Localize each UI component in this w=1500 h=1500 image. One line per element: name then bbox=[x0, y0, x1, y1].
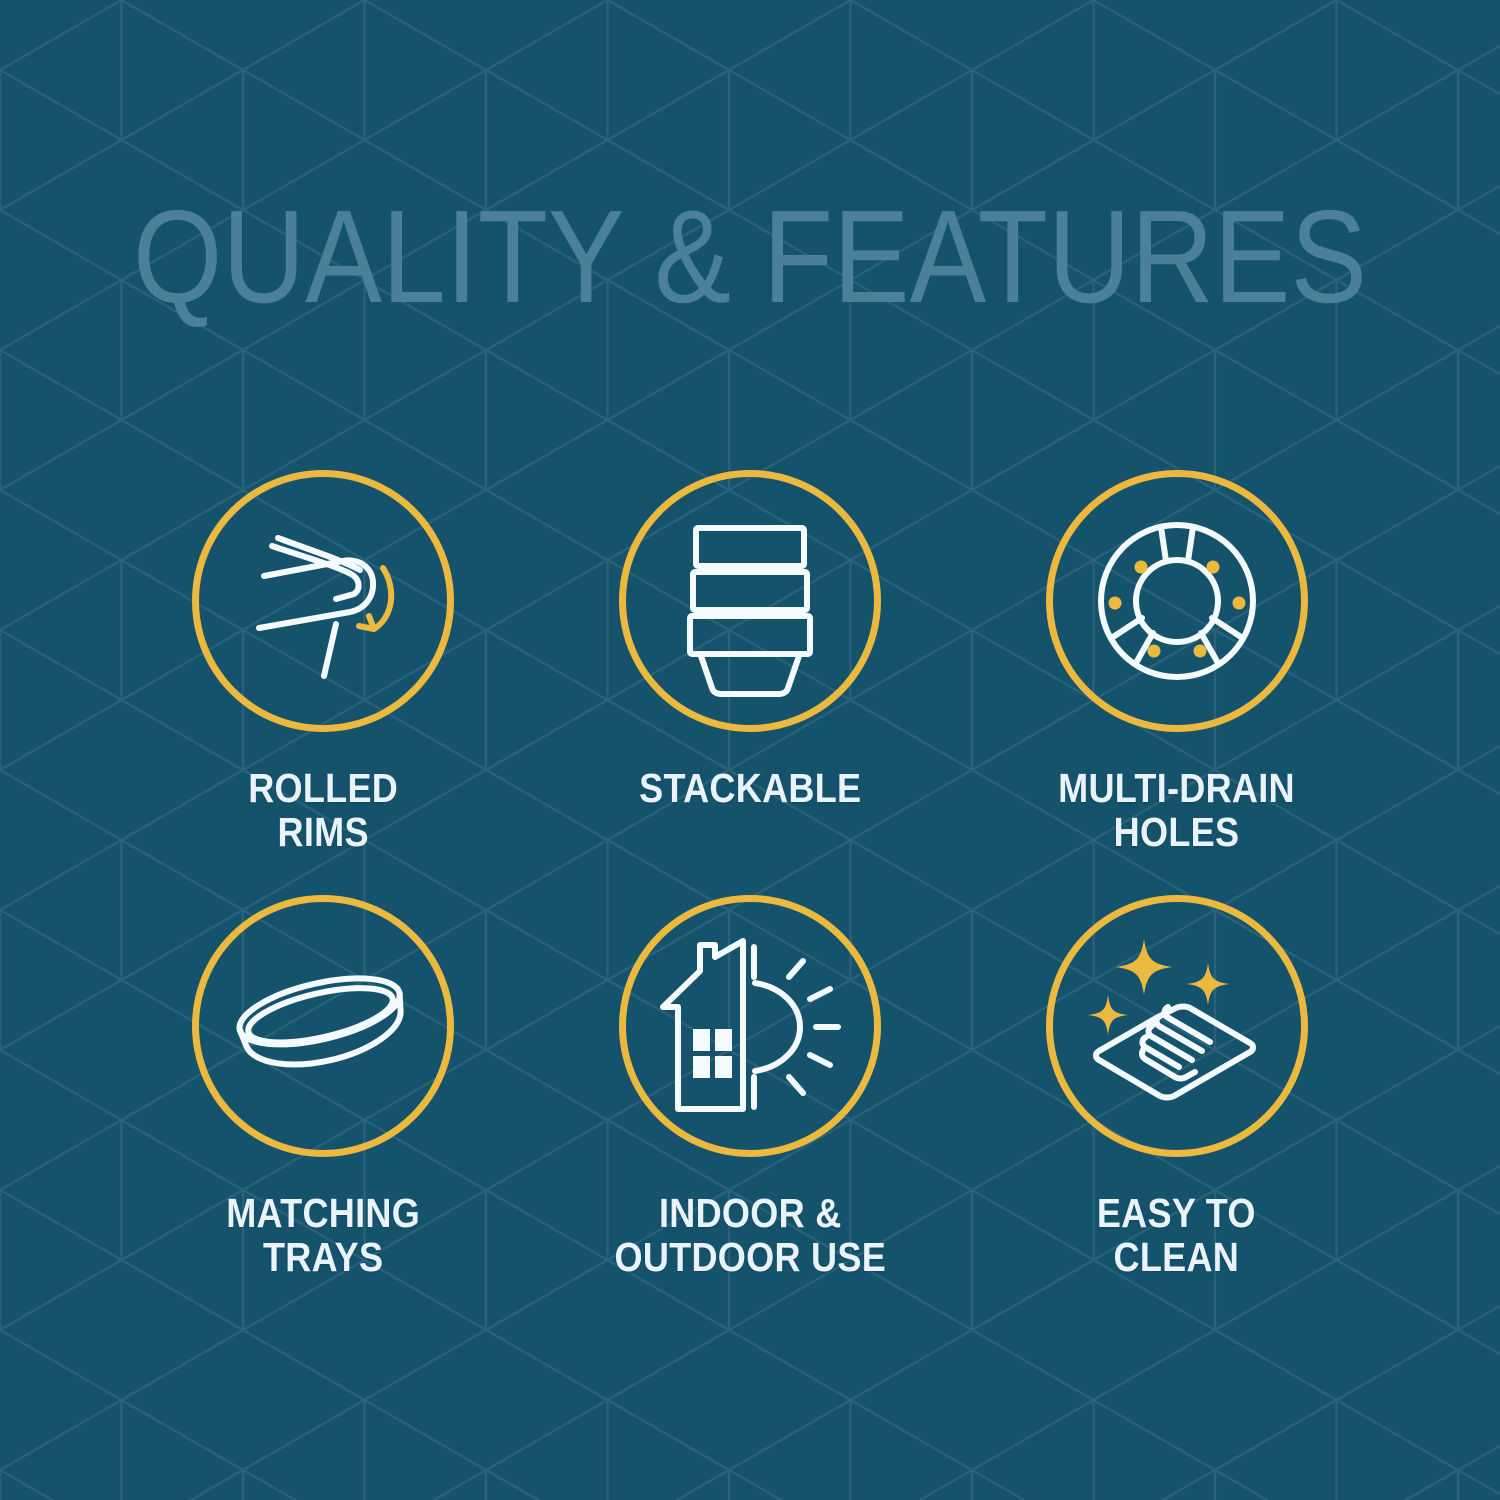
icon-circle-rolled-rims bbox=[192, 470, 454, 732]
feature-multi-drain-holes[interactable]: MULTI-DRAIN HOLES bbox=[963, 470, 1390, 895]
feature-label-rolled-rims: ROLLED RIMS bbox=[248, 766, 398, 855]
feature-label-indoor-outdoor-use: INDOOR & OUTDOOR USE bbox=[614, 1191, 886, 1280]
saucer-tray-icon bbox=[228, 931, 418, 1121]
feature-matching-trays[interactable]: MATCHING TRAYS bbox=[110, 895, 537, 1320]
page-title: QUALITY & FEATURES bbox=[0, 196, 1500, 336]
feature-indoor-outdoor-use[interactable]: INDOOR & OUTDOOR USE bbox=[537, 895, 964, 1320]
feature-label-multi-drain-holes: MULTI-DRAIN HOLES bbox=[1058, 766, 1295, 855]
house-sun-icon bbox=[655, 931, 845, 1121]
title-label: QUALITY & FEATURES bbox=[133, 201, 1367, 330]
stacked-pots-icon bbox=[655, 506, 845, 696]
feature-rolled-rims[interactable]: ROLLED RIMS bbox=[110, 470, 537, 895]
icon-circle-easy-to-clean bbox=[1046, 895, 1308, 1157]
icon-circle-indoor-outdoor-use bbox=[619, 895, 881, 1157]
feature-label-stackable: STACKABLE bbox=[639, 766, 861, 810]
hand-wiping-sparkle-icon bbox=[1082, 931, 1272, 1121]
feature-label-easy-to-clean: EASY TO CLEAN bbox=[1097, 1191, 1256, 1280]
rolled-rim-icon bbox=[228, 506, 418, 696]
quality-features-graphic: QUALITY & FEATURES bbox=[0, 0, 1500, 1500]
feature-easy-to-clean[interactable]: EASY TO CLEAN bbox=[963, 895, 1390, 1320]
icon-circle-stackable bbox=[619, 470, 881, 732]
page-title-text: QUALITY & FEATURES bbox=[130, 201, 1370, 331]
feature-label-matching-trays: MATCHING TRAYS bbox=[226, 1191, 420, 1280]
feature-grid: ROLLED RIMS STACKABLE bbox=[110, 470, 1390, 1370]
drain-holes-icon bbox=[1082, 506, 1272, 696]
icon-circle-multi-drain-holes bbox=[1046, 470, 1308, 732]
icon-circle-matching-trays bbox=[192, 895, 454, 1157]
feature-stackable[interactable]: STACKABLE bbox=[537, 470, 964, 895]
